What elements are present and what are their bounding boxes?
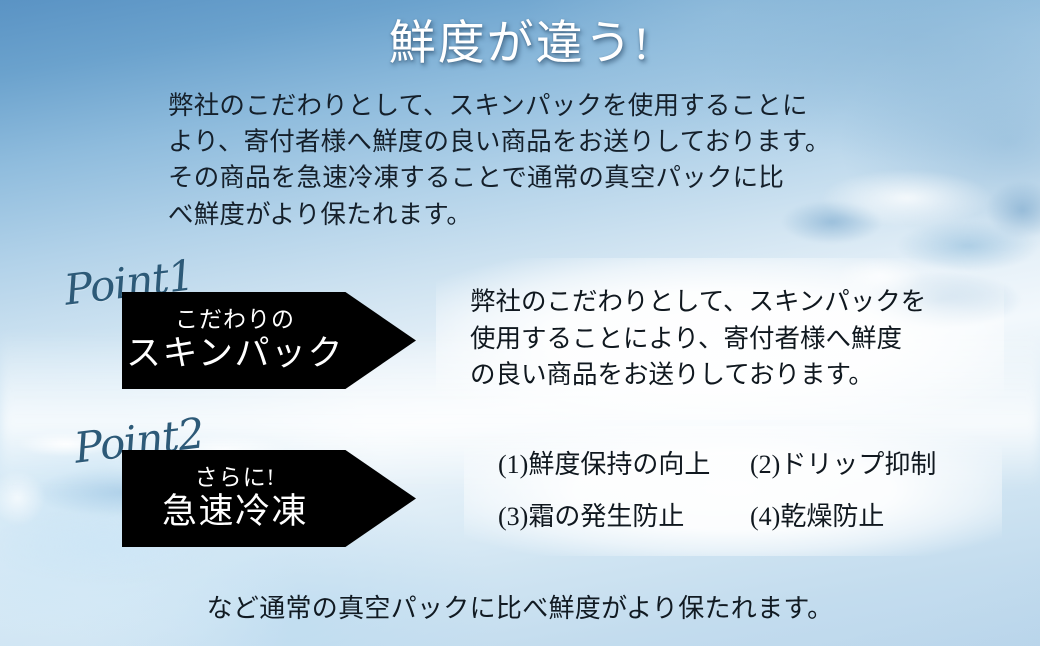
point2-banner-line1: さらに!	[122, 466, 348, 490]
benefit-item: (2)ドリップ抑制	[750, 452, 968, 478]
intro-paragraph: 弊社のこだわりとして、スキンパックを使用することに より、寄付者様へ鮮度の良い商…	[168, 88, 886, 233]
page-title: 鮮度が違う!	[0, 18, 1040, 71]
point1-description-line: の良い商品をお送りしております。	[470, 357, 970, 394]
benefit-item: (1)鮮度保持の向上	[498, 452, 750, 478]
point1-banner-line1: こだわりの	[122, 308, 348, 332]
point1-description-line: 使用することにより、寄付者様へ鮮度	[470, 321, 970, 358]
point2-banner-line2: 急速冷凍	[122, 492, 348, 531]
intro-line: 弊社のこだわりとして、スキンパックを使用することに	[168, 88, 886, 124]
point1-description: 弊社のこだわりとして、スキンパックを 使用することにより、寄付者様へ鮮度 の良い…	[470, 284, 970, 394]
promo-poster: 鮮度が違う! 弊社のこだわりとして、スキンパックを使用することに より、寄付者様…	[0, 0, 1040, 646]
benefit-item: (4)乾燥防止	[750, 504, 968, 530]
intro-line: べ鮮度がより保たれます。	[168, 197, 886, 233]
point1-description-line: 弊社のこだわりとして、スキンパックを	[470, 284, 970, 321]
point2-benefit-list: (1)鮮度保持の向上 (2)ドリップ抑制 (3)霜の発生防止 (4)乾燥防止	[498, 452, 968, 530]
intro-line: より、寄付者様へ鮮度の良い商品をお送りしております。	[168, 124, 886, 160]
benefit-item: (3)霜の発生防止	[498, 504, 750, 530]
intro-line: その商品を急速冷凍することで通常の真空パックに比	[168, 160, 886, 196]
footer-text: など通常の真空パックに比べ鮮度がより保たれます。	[0, 588, 1040, 625]
point1-banner-line2: スキンパック	[122, 334, 348, 373]
